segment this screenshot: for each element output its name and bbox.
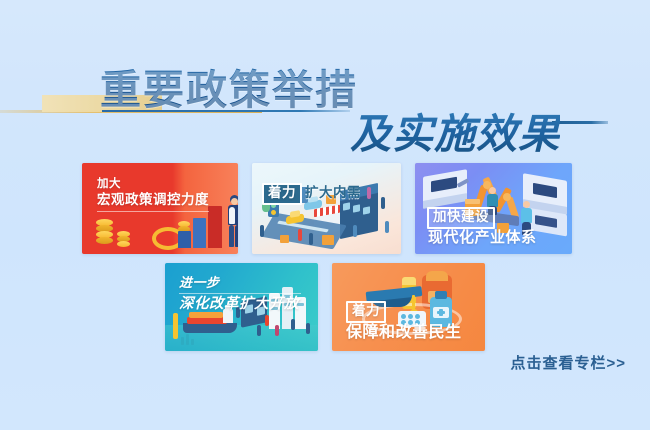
page-title-line1: 重要政策举措 [100,56,358,116]
policy-card-peoples-livelihood[interactable]: 着力 保障和改善民生 [332,263,485,351]
card4-eyebrow: 进一步 [179,275,220,291]
policy-card-reform-opening[interactable]: 进一步 深化改革扩大开放 [165,263,318,351]
card2-eyebrow: 着力 [262,183,302,205]
card4-headline: 深化改革扩大开放 [179,296,299,314]
policy-banner: 重要政策举措 及实施效果 [0,0,650,430]
card5-eyebrow: 着力 [346,301,386,323]
card2-headline: 扩大内需 [305,185,361,200]
card1-eyebrow: 加大 [97,177,121,191]
blue-rule-decoration [552,121,608,124]
page-title-line2: 及实施效果 [350,100,560,160]
policy-card-macro-regulation[interactable]: 加大 宏观政策调控力度 [82,163,238,254]
banner-title-block: 重要政策举措 及实施效果 [0,56,650,156]
card2-illustration [252,163,401,254]
card1-divider [97,211,209,212]
view-column-link[interactable]: 点击查看专栏>> [510,352,626,373]
card3-eyebrow: 加快建设 [427,207,495,229]
card3-headline: 现代化产业体系 [428,229,537,247]
policy-card-modern-industry[interactable]: 加快建设 现代化产业体系 [415,163,572,254]
card5-headline: 保障和改善民生 [346,323,462,343]
policy-card-expand-demand[interactable]: 着力扩大内需 [252,163,401,254]
title-underline [102,110,350,112]
card1-headline: 宏观政策调控力度 [97,192,209,208]
card4-divider [179,293,301,294]
